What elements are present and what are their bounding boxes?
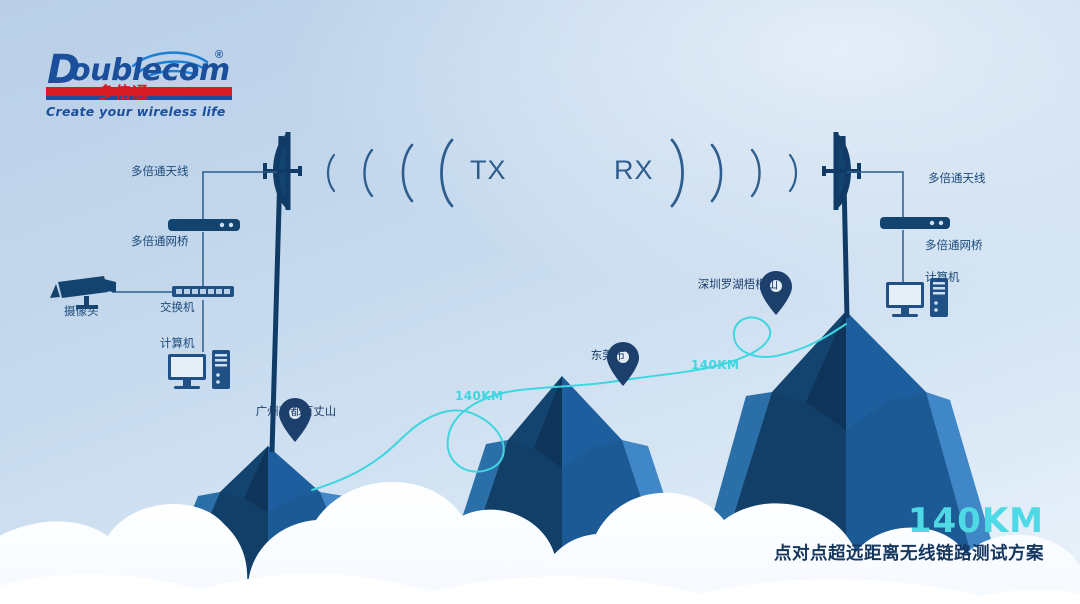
device-bridge-right xyxy=(880,217,950,229)
device-switch-left xyxy=(172,286,234,297)
label-bridge-right: 多倍通网桥 xyxy=(925,240,983,252)
label-antenna-left: 多倍通天线 xyxy=(131,166,189,178)
label-antenna-right: 多倍通天线 xyxy=(928,173,986,185)
title-subtitle: 点对点超远距离无线链路测试方案 xyxy=(774,543,1044,566)
antenna-dish-left xyxy=(265,132,300,210)
logo-chinese-name: 多倍通 xyxy=(98,85,149,101)
location-label-0: 广州花都百丈山 xyxy=(256,406,337,418)
label-camera-left: 摄像头 xyxy=(64,306,99,318)
brand-logo: D oublecom ® 多倍通 Create your wireless li… xyxy=(44,40,234,118)
signal-arcs-rx xyxy=(672,140,796,206)
label-bridge-left: 多倍通网桥 xyxy=(131,236,189,248)
label-computer-right: 计算机 xyxy=(925,272,960,284)
infographic-canvas: D oublecom ® 多倍通 Create your wireless li… xyxy=(0,0,1080,604)
tx-label: TX xyxy=(470,157,507,184)
route-distance-label-0: 140KM xyxy=(455,390,503,402)
location-label-1: 东莞市 xyxy=(591,350,626,362)
device-computer-left xyxy=(168,350,230,389)
location-label-2: 深圳罗湖梧桐山 xyxy=(698,279,779,291)
label-computer-left: 计算机 xyxy=(160,338,195,350)
left-connectors xyxy=(112,172,277,352)
label-switch-left: 交换机 xyxy=(160,302,195,314)
route-distance-label-1: 140KM xyxy=(691,359,739,371)
device-bridge-left xyxy=(168,219,240,231)
title-block: 140KM 点对点超远距离无线链路测试方案 xyxy=(774,504,1044,566)
title-distance: 140KM xyxy=(774,504,1044,540)
rx-label: RX xyxy=(614,157,654,184)
right-connectors xyxy=(847,172,903,296)
registered-trademark-icon: ® xyxy=(215,49,223,61)
signal-arcs-tx xyxy=(328,140,452,206)
antenna-dish-right xyxy=(824,132,859,210)
logo-tagline: Create your wireless life xyxy=(46,106,226,119)
